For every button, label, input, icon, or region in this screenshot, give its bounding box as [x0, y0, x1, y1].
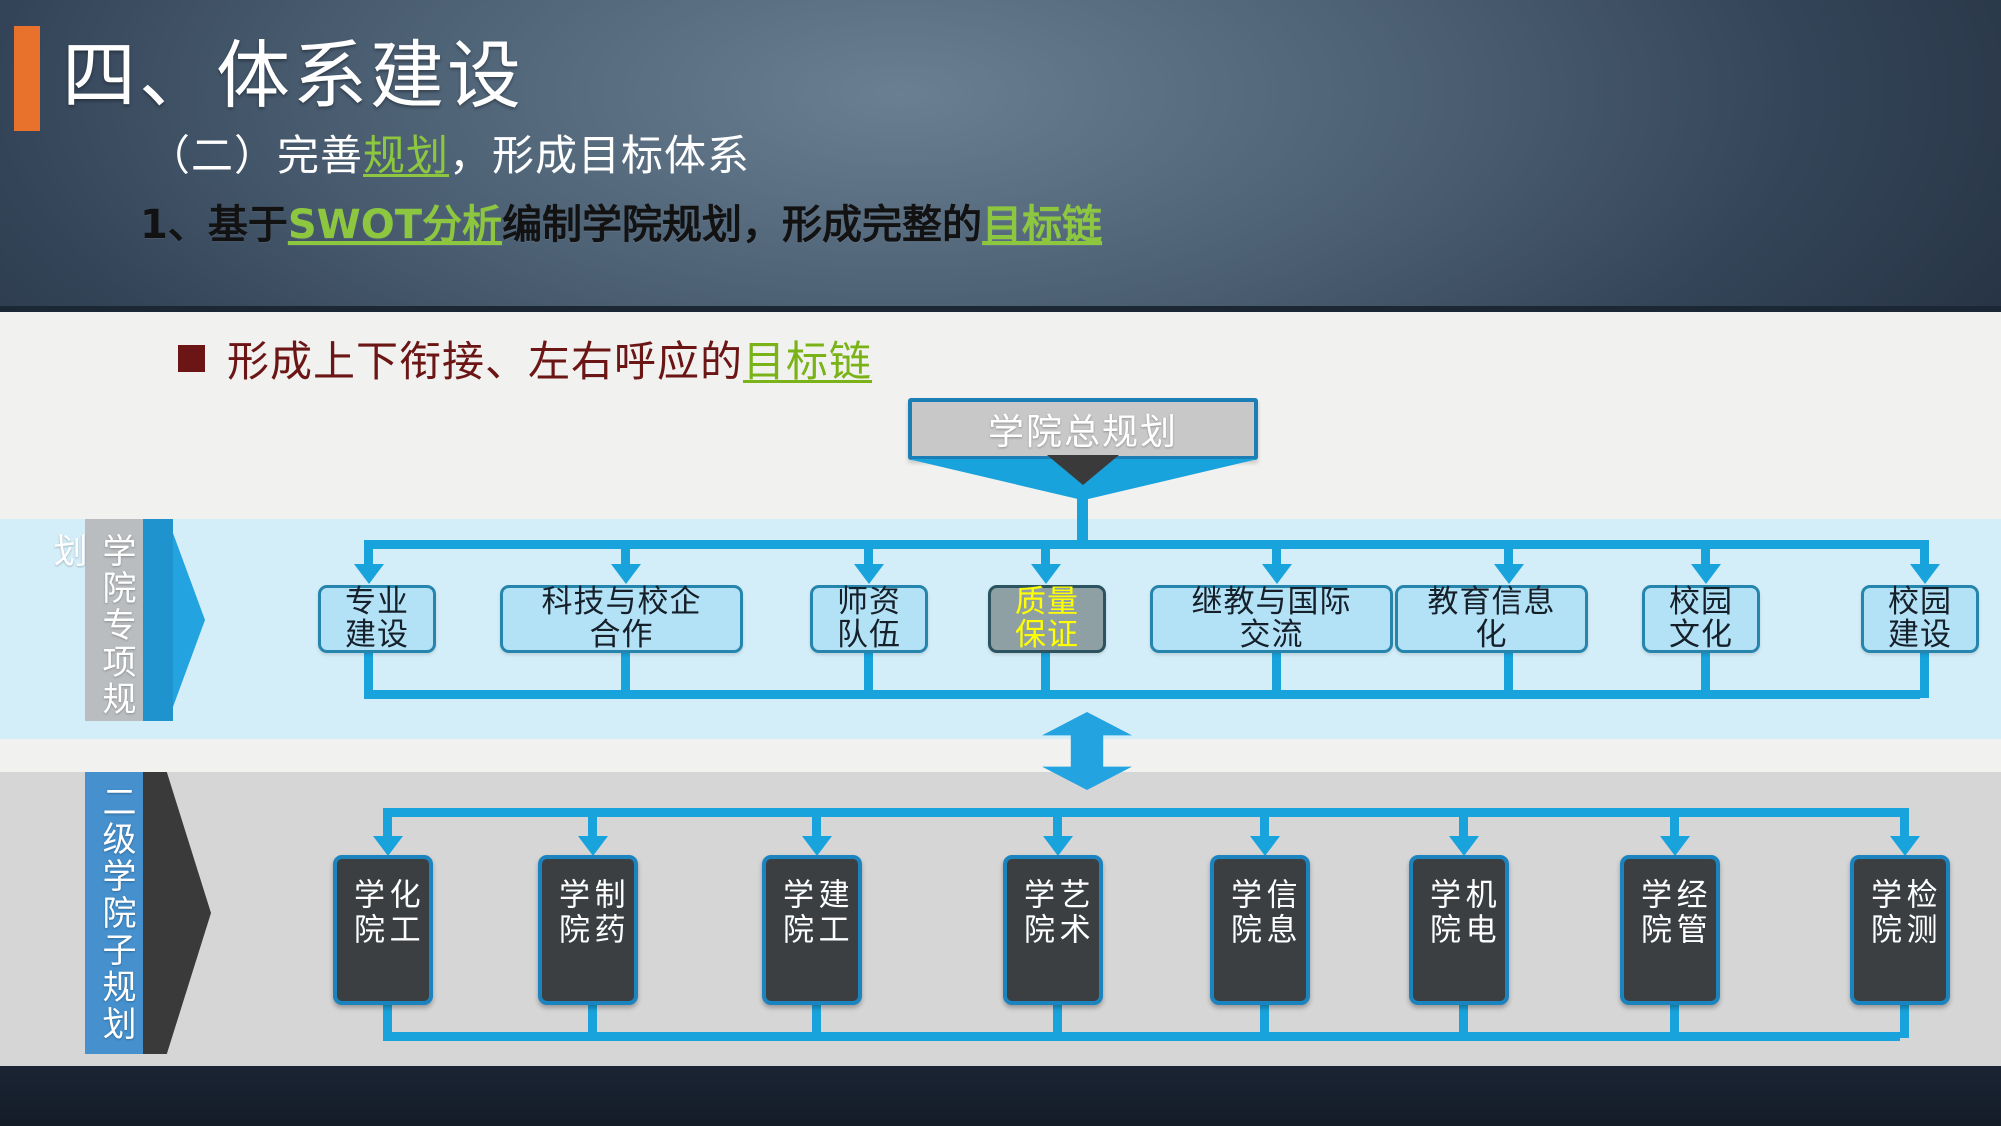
bbox-label-5: 信息学院	[1224, 878, 1295, 982]
bbox-pharmacy-college[interactable]: 制药学院	[538, 855, 638, 1005]
band1-drop-2	[621, 540, 630, 566]
band1-rise-8	[1920, 653, 1929, 698]
node-overall-plan[interactable]: 学院总规划	[908, 398, 1258, 460]
mbox-campus-construction[interactable]: 校园建设	[1861, 585, 1979, 653]
subtitle-after: ，形成目标体系	[449, 131, 750, 180]
band2-drop-5	[1260, 808, 1269, 840]
bbox-label-4: 艺术学院	[1017, 878, 1088, 982]
band2-rise-7	[1670, 1003, 1679, 1038]
band2-rise-5	[1260, 1003, 1269, 1038]
band1-drop-8	[1920, 540, 1929, 566]
band1-drop-4	[1041, 540, 1050, 566]
bbox-label-7: 经管学院	[1634, 878, 1705, 982]
bullet-row: 形成上下衔接、左右呼应的目标链	[178, 328, 872, 389]
page-title: 四、体系建设	[62, 16, 524, 123]
node-overall-plan-label: 学院总规划	[988, 403, 1178, 455]
slide-footer	[0, 1066, 2001, 1126]
mbox-tech-school-enterprise[interactable]: 科技与校企合作	[500, 585, 743, 653]
heading-middle: 编制学院规划，形成完整的	[502, 202, 982, 248]
band1-rise-2	[621, 653, 630, 698]
band2-drop-7	[1670, 808, 1679, 840]
band1-rise-3	[864, 653, 873, 698]
band2-rise-8	[1900, 1003, 1909, 1038]
band2-drop-4	[1053, 808, 1062, 840]
bbox-label-8: 检测学院	[1864, 878, 1935, 982]
bbox-label-1: 化工学院	[347, 878, 418, 982]
bullet-text-highlight: 目标链	[743, 337, 872, 386]
bbox-inspection-college[interactable]: 检测学院	[1850, 855, 1950, 1005]
band2-rise-1	[383, 1003, 392, 1038]
heading-prefix: 1、基于	[140, 202, 288, 248]
mbox-continuing-intl-exchange[interactable]: 继教与国际交流	[1150, 585, 1393, 653]
side-label-2-text: 二级学院子规划	[89, 784, 141, 1043]
band1-drop-3	[864, 540, 873, 566]
bullet-square-icon	[178, 345, 205, 372]
band2-rise-3	[812, 1003, 821, 1038]
slide-root: 四、体系建设 （二）完善规划，形成目标体系 1、基于SWOT分析编制学院规划，形…	[0, 0, 2001, 1126]
bbox-mechanical-electrical-college[interactable]: 机电学院	[1409, 855, 1509, 1005]
side-label-2-arrow-icon	[143, 772, 211, 1054]
orange-accent-bar	[14, 26, 40, 131]
heading-highlight-goalchain: 目标链	[982, 202, 1102, 248]
side-label-1-text: 学院专项规划	[89, 533, 141, 721]
band2-rise-2	[588, 1003, 597, 1038]
subtitle-highlight: 规划	[363, 131, 449, 180]
band2-rise-6	[1459, 1003, 1468, 1038]
top-connector-stem	[1077, 492, 1088, 544]
heading-highlight-swot: SWOT分析	[288, 202, 502, 248]
subtitle: （二）完善规划，形成目标体系	[148, 122, 750, 183]
slide-header: 四、体系建设 （二）完善规划，形成目标体系 1、基于SWOT分析编制学院规划，形…	[0, 0, 2001, 312]
band1-rise-6	[1504, 653, 1513, 698]
mbox-major-construction[interactable]: 专业建设	[318, 585, 436, 653]
band1-drop-5	[1272, 540, 1281, 566]
heading-point-1: 1、基于SWOT分析编制学院规划，形成完整的目标链	[140, 192, 1102, 250]
subtitle-before: （二）完善	[148, 131, 363, 180]
side-label-1-arrow-inner	[143, 519, 173, 721]
band1-rise-1	[364, 653, 373, 698]
mbox-faculty-team[interactable]: 师资队伍	[810, 585, 928, 653]
band2-drop-8	[1900, 808, 1909, 840]
bullet-text-before: 形成上下衔接、左右呼应的	[227, 337, 743, 386]
side-label-special-plans: 学院专项规划	[85, 519, 200, 721]
bbox-label-6: 机电学院	[1423, 878, 1494, 982]
band1-top-bus	[364, 540, 1920, 549]
bullet-text: 形成上下衔接、左右呼应的目标链	[227, 328, 872, 389]
band1-rise-4	[1041, 653, 1050, 698]
band2-drop-6	[1459, 808, 1468, 840]
mbox-campus-culture[interactable]: 校园文化	[1642, 585, 1760, 653]
bbox-label-2: 制药学院	[552, 878, 623, 982]
band1-drop-1	[364, 540, 373, 566]
band1-drop-7	[1701, 540, 1710, 566]
band1-drop-6	[1504, 540, 1513, 566]
side-label-secondary-colleges: 二级学院子规划	[85, 772, 210, 1054]
band2-rise-4	[1053, 1003, 1062, 1038]
bbox-art-college[interactable]: 艺术学院	[1003, 855, 1103, 1005]
mbox-education-informatization[interactable]: 教育信息化	[1395, 585, 1588, 653]
bbox-information-college[interactable]: 信息学院	[1210, 855, 1310, 1005]
bbox-label-3: 建工学院	[776, 878, 847, 982]
band1-bottom-bus	[364, 690, 1920, 699]
bbox-economics-management-college[interactable]: 经管学院	[1620, 855, 1720, 1005]
mbox-quality-assurance[interactable]: 质量保证	[988, 585, 1106, 653]
band1-rise-7	[1701, 653, 1710, 698]
bbox-chemical-engineering-college[interactable]: 化工学院	[333, 855, 433, 1005]
bbox-construction-engineering-college[interactable]: 建工学院	[762, 855, 862, 1005]
band2-drop-2	[588, 808, 597, 840]
band1-rise-5	[1272, 653, 1281, 698]
band2-drop-1	[383, 808, 392, 840]
band2-drop-3	[812, 808, 821, 840]
